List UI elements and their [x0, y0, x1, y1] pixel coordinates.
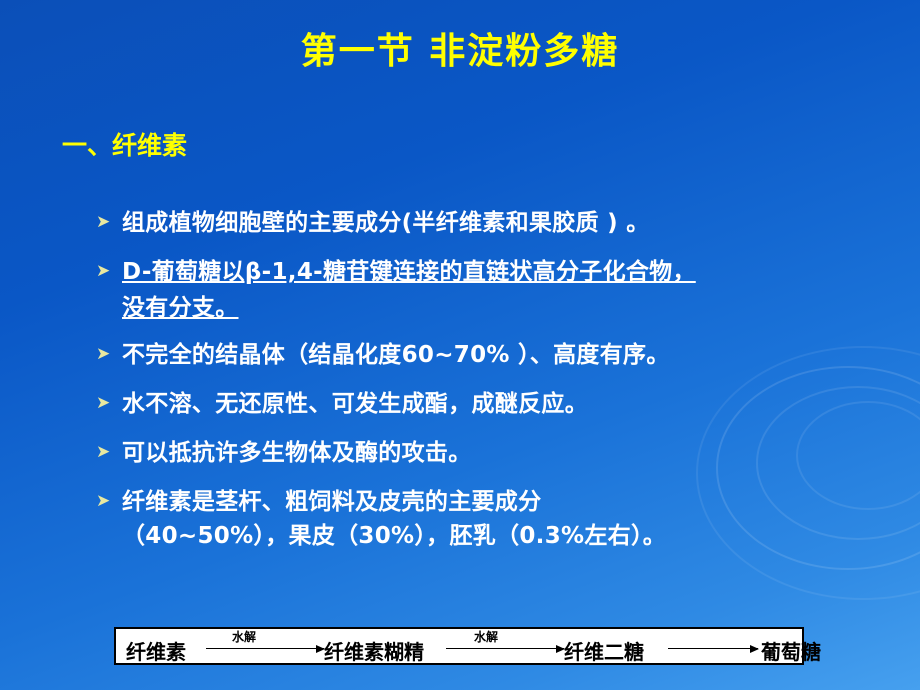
reaction-arrow-3	[668, 648, 758, 649]
arrow-bullet-icon: ➤	[96, 256, 122, 286]
list-item: ➤ 可以抵抗许多生物体及酶的攻击。	[96, 437, 896, 469]
arrow-bullet-icon: ➤	[96, 486, 122, 516]
reaction-term-cellulose: 纤维素	[126, 636, 186, 665]
reaction-term-cellobiose: 纤维二糖	[564, 636, 644, 665]
arrow-bullet-icon: ➤	[96, 437, 122, 467]
list-item-continuation: （40~50%），果皮（30%），胚乳（0.3%左右）。	[96, 520, 896, 552]
reaction-arrow-1	[206, 648, 324, 649]
bullet-text-solubility: 水不溶、无还原性、可发生成酯，成醚反应。	[122, 388, 588, 420]
arrow-bullet-icon: ➤	[96, 207, 122, 237]
bullet-text-glucose-linkage-line2: 没有分支。	[122, 292, 239, 324]
list-item: ➤ 组成植物细胞壁的主要成分(半纤维素和果胶质 ) 。	[96, 207, 896, 239]
reaction-term-glucose: 葡萄糖	[761, 636, 821, 665]
bullet-text-resistance: 可以抵抗许多生物体及酶的攻击。	[122, 437, 472, 469]
bullet-text-content-line2: （40~50%），果皮（30%），胚乳（0.3%左右）。	[122, 520, 666, 552]
arrow-bullet-icon: ➤	[96, 388, 122, 418]
reaction-label-hydrolysis-1: 水解	[232, 628, 256, 645]
bullet-text-composition: 组成植物细胞壁的主要成分(半纤维素和果胶质 ) 。	[122, 207, 650, 239]
bullet-list: ➤ 组成植物细胞壁的主要成分(半纤维素和果胶质 ) 。 ➤ D-葡萄糖以β-1,…	[96, 207, 896, 569]
bullet-text-content-line1: 纤维素是茎杆、粗饲料及皮壳的主要成分	[122, 486, 541, 518]
section-heading: 一、纤维素	[62, 126, 187, 162]
slide-canvas: 第一节 非淀粉多糖 一、纤维素 ➤ 组成植物细胞壁的主要成分(半纤维素和果胶质 …	[0, 0, 920, 690]
list-item: ➤ 水不溶、无还原性、可发生成酯，成醚反应。	[96, 388, 896, 420]
bullet-text-crystallinity: 不完全的结晶体（结晶化度60~70% ）、高度有序。	[122, 339, 670, 371]
reaction-arrow-2	[446, 648, 564, 649]
reaction-scheme-box: 纤维素 水解 纤维素糊精 水解 纤维二糖 葡萄糖	[114, 627, 804, 665]
reaction-scheme: 纤维素 水解 纤维素糊精 水解 纤维二糖 葡萄糖	[116, 629, 802, 663]
reaction-label-hydrolysis-2: 水解	[474, 628, 498, 645]
arrow-bullet-icon: ➤	[96, 339, 122, 369]
list-item: ➤ 不完全的结晶体（结晶化度60~70% ）、高度有序。	[96, 339, 896, 371]
list-item: ➤ D-葡萄糖以β-1,4-糖苷键连接的直链状高分子化合物，	[96, 256, 896, 288]
list-item: ➤ 纤维素是茎杆、粗饲料及皮壳的主要成分	[96, 486, 896, 518]
reaction-term-cellodextrin: 纤维素糊精	[324, 636, 424, 665]
list-item-continuation: 没有分支。	[96, 292, 896, 324]
slide-title: 第一节 非淀粉多糖	[0, 22, 920, 74]
bullet-text-glucose-linkage-line1: D-葡萄糖以β-1,4-糖苷键连接的直链状高分子化合物，	[122, 256, 696, 288]
